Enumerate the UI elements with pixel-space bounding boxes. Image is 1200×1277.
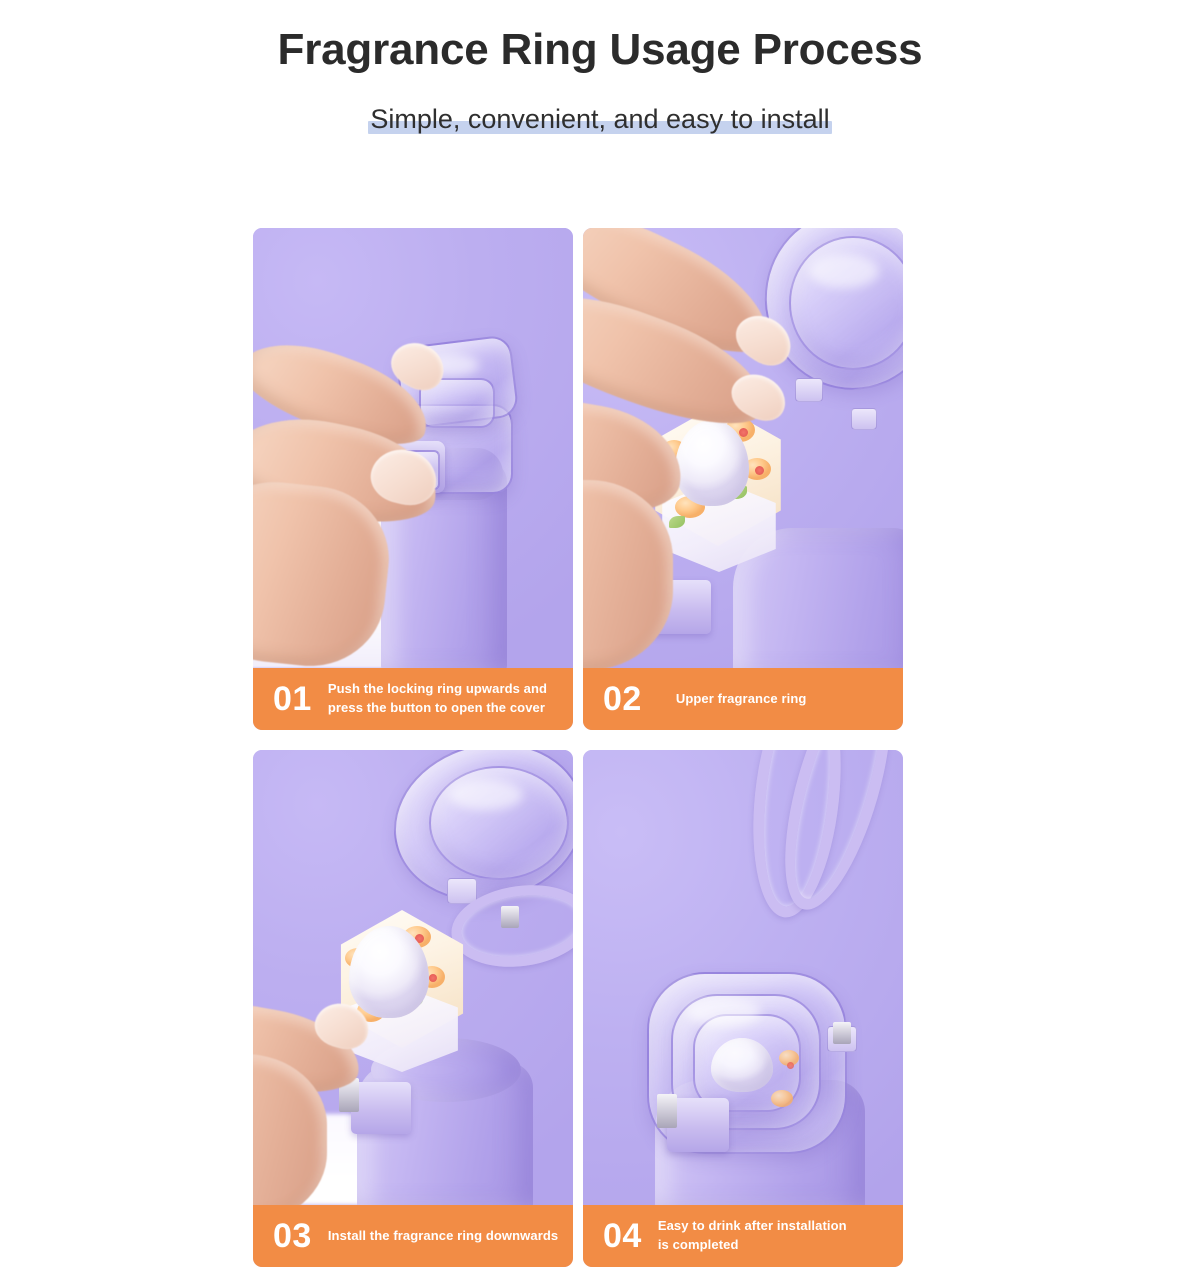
caption-line-1: Push the locking ring upwards and: [328, 680, 547, 699]
lid-highlight: [809, 254, 879, 288]
strap-metal-clip: [501, 906, 519, 928]
step-caption-01: 01 Push the locking ring upwards and pre…: [253, 668, 573, 730]
fruit-dot-2: [755, 466, 764, 475]
step-caption-text-03: Install the fragrance ring downwards: [328, 1227, 558, 1246]
fruit-dot-2: [429, 974, 437, 982]
metal-clip: [657, 1094, 677, 1128]
step-photo-03: [253, 750, 573, 1205]
step-number-03: 03: [273, 1219, 312, 1253]
step-number-02: 02: [603, 682, 642, 716]
strap-metal-clip: [833, 1022, 851, 1044]
step-card-03: 03 Install the fragrance ring downwards: [253, 750, 573, 1267]
page-subtitle: Simple, convenient, and easy to install: [368, 104, 831, 135]
step-caption-02: 02 Upper fragrance ring: [583, 668, 903, 730]
fruit-dot-1: [739, 428, 748, 437]
step-photo-01: [253, 228, 573, 668]
lid-hinge: [795, 378, 823, 402]
step-number-01: 01: [273, 682, 312, 716]
fruit-dot-inside-1: [787, 1062, 794, 1069]
step-card-01: 01 Push the locking ring upwards and pre…: [253, 228, 573, 730]
step-card-02: 02 Upper fragrance ring: [583, 228, 903, 730]
subtitle-container: Simple, convenient, and easy to install: [0, 104, 1200, 135]
subtitle-text: Simple, convenient, and easy to install: [370, 104, 829, 134]
step-card-04: 04 Easy to drink after installation is c…: [583, 750, 903, 1267]
caption-line-1: Easy to drink after installation: [658, 1217, 847, 1236]
steps-grid: 01 Push the locking ring upwards and pre…: [253, 228, 903, 1267]
step-caption-text-01: Push the locking ring upwards and press …: [328, 680, 547, 718]
lid-highlight: [449, 780, 523, 810]
caption-line-2: press the button to open the cover: [328, 699, 547, 718]
step-caption-03: 03 Install the fragrance ring downwards: [253, 1205, 573, 1267]
step-caption-text-04: Easy to drink after installation is comp…: [658, 1217, 847, 1255]
step-caption-04: 04 Easy to drink after installation is c…: [583, 1205, 903, 1267]
page-title: Fragrance Ring Usage Process: [0, 26, 1200, 74]
step-caption-text-02: Upper fragrance ring: [676, 690, 807, 709]
step-photo-04: [583, 750, 903, 1205]
fragrance-ring-nub-inside: [711, 1038, 773, 1092]
locking-ring-tab: [351, 1082, 411, 1134]
step-number-04: 04: [603, 1219, 642, 1253]
step-photo-02: [583, 228, 903, 668]
fruit-peach-inside-2: [771, 1090, 793, 1107]
caption-line-2: is completed: [658, 1236, 847, 1255]
lid-hinge-2: [851, 408, 877, 430]
page-header: Fragrance Ring Usage Process Simple, con…: [0, 0, 1200, 135]
lid-highlight: [687, 998, 761, 1026]
